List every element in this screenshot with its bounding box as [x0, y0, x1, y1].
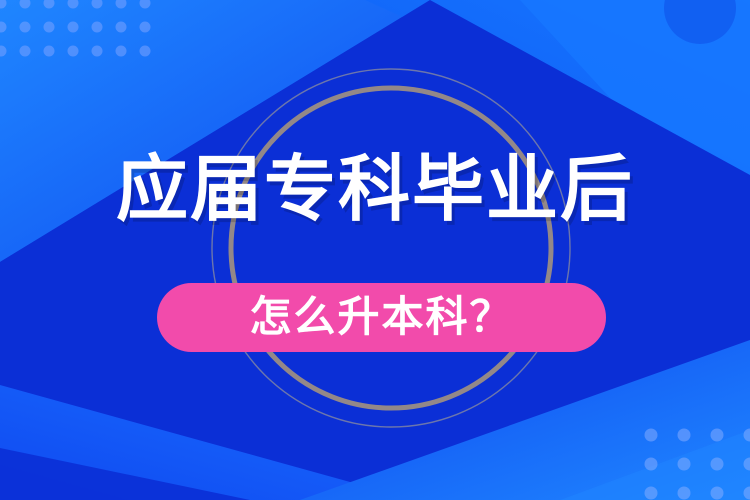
subtitle-pill: 怎么升本科？ — [157, 283, 606, 352]
subtitle-pill-label: 怎么升本科？ — [249, 296, 513, 340]
background-graphics — [0, 0, 750, 500]
promo-banner: 应届专科毕业后 怎么升本科？ — [0, 0, 750, 500]
banner-headline: 应届专科毕业后 — [0, 154, 750, 226]
